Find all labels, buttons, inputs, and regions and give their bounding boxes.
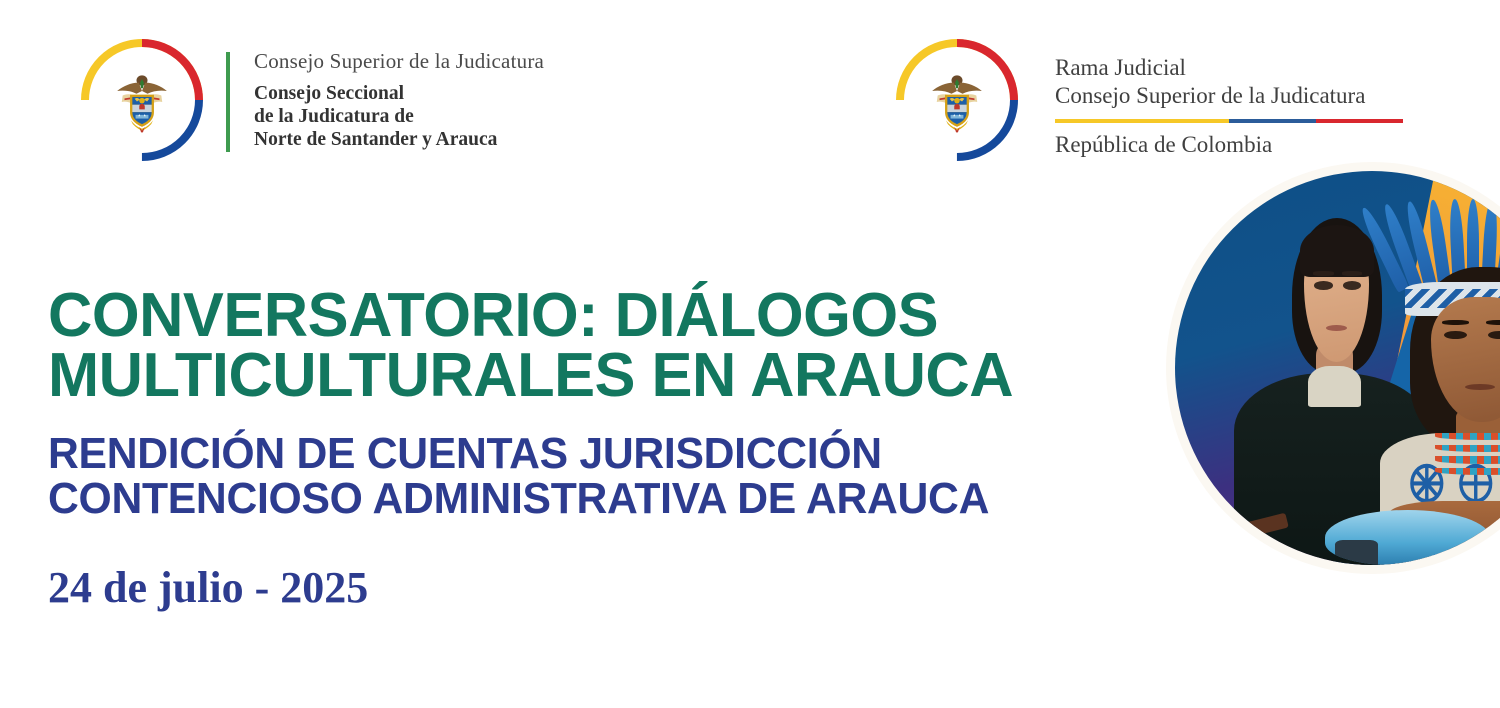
- headline-block: CONVERSATORIO: DIÁLOGOS MULTICULTURALES …: [48, 286, 1158, 610]
- judge-hair-top: [1300, 225, 1374, 277]
- event-date: 24 de julio - 2025: [48, 566, 1158, 610]
- elder-necklaces: [1435, 433, 1500, 486]
- event-subtitle-line-2: CONTENCIOSO ADMINISTRATIVA DE ARAUCA: [48, 476, 1125, 521]
- colombia-coat-of-arms-icon: [893, 36, 1021, 164]
- logo-left-bold-line-2: de la Judicatura de: [254, 106, 544, 129]
- judge-eye-left: [1314, 281, 1332, 290]
- elder-eyebrow-right: [1486, 320, 1500, 325]
- logo-right-text: Rama Judicial Consejo Superior de la Jud…: [1055, 54, 1403, 159]
- tricolor-red: [1316, 119, 1403, 123]
- logo-green-divider: [226, 52, 230, 152]
- colombia-tricolor-bar: [1055, 119, 1403, 123]
- event-title-line-1: CONVERSATORIO: DIÁLOGOS: [48, 286, 1147, 346]
- elder-eyebrow-left: [1442, 320, 1470, 325]
- logo-left-bold-line-3: Norte de Santander y Arauca: [254, 129, 544, 152]
- logo-right-line-2: Consejo Superior de la Judicatura: [1055, 82, 1403, 110]
- colombia-coat-of-arms-icon: [78, 36, 206, 164]
- elder-mouth: [1465, 384, 1495, 390]
- event-subtitle: RENDICIÓN DE CUENTAS JURISDICCIÓN CONTEN…: [48, 431, 1125, 522]
- judge-eyebrow-left: [1313, 271, 1333, 275]
- hero-landscape-sliver: [1325, 510, 1490, 565]
- logo-left-line-1: Consejo Superior de la Judicatura: [254, 49, 544, 73]
- logo-rama-judicial: Rama Judicial Consejo Superior de la Jud…: [893, 36, 1403, 164]
- judge-eyebrow-right: [1342, 271, 1362, 275]
- tricolor-yellow: [1055, 119, 1229, 123]
- event-title-line-2: MULTICULTURALES EN ARAUCA: [48, 346, 1147, 406]
- event-subtitle-line-1: RENDICIÓN DE CUENTAS JURISDICCIÓN: [48, 431, 1125, 476]
- hero-image-clip: [1175, 171, 1500, 565]
- logo-left-text: Consejo Superior de la Judicatura Consej…: [254, 49, 544, 152]
- banner-page: Consejo Superior de la Judicatura Consej…: [0, 0, 1500, 708]
- hero-circular-image: [1166, 162, 1500, 574]
- event-title: CONVERSATORIO: DIÁLOGOS MULTICULTURALES …: [48, 286, 1147, 405]
- tricolor-blue: [1229, 119, 1316, 123]
- logo-left-bold-lines: Consejo Seccional de la Judicatura de No…: [254, 83, 544, 151]
- logo-consejo-seccional: Consejo Superior de la Judicatura Consej…: [78, 36, 544, 164]
- logo-right-line-3: República de Colombia: [1055, 131, 1403, 159]
- judge-eye-right: [1343, 281, 1361, 290]
- logo-left-bold-line-1: Consejo Seccional: [254, 83, 544, 106]
- logo-right-line-1: Rama Judicial: [1055, 54, 1403, 82]
- judge-collar: [1308, 366, 1361, 407]
